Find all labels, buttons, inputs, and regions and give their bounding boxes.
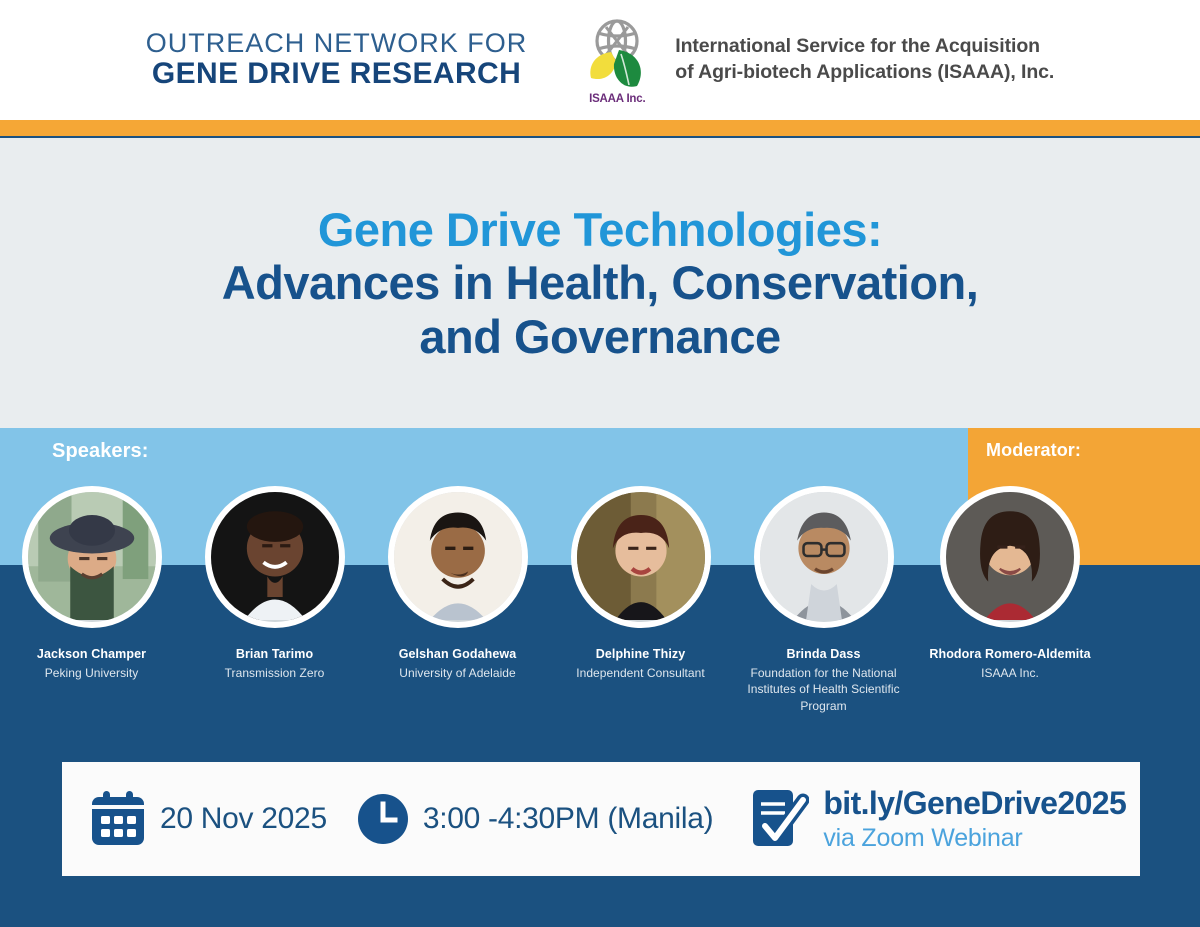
page-title-line2: Advances in Health, Conservation,	[222, 256, 979, 310]
speaker-name: Jackson Champer	[37, 647, 146, 663]
people-row: Jackson Champer Peking University Brian …	[0, 486, 1200, 746]
avatar	[754, 486, 894, 628]
isaaa-name-line2: of Agri-biotech Applications (ISAAA), In…	[675, 60, 1054, 86]
outreach-network-line2: GENE DRIVE RESEARCH	[146, 58, 528, 90]
registration-link-block[interactable]: bit.ly/GeneDrive2025 via Zoom Webinar	[823, 787, 1126, 851]
speaker-name: Brian Tarimo	[236, 647, 313, 663]
speaker-affiliation: Independent Consultant	[576, 665, 705, 682]
avatar	[388, 486, 528, 628]
poster-header: OUTREACH NETWORK FOR GENE DRIVE RESEARCH	[0, 0, 1200, 120]
speaker-affiliation: Peking University	[45, 665, 139, 682]
isaaa-full-name: International Service for the Acquisitio…	[675, 34, 1054, 85]
speaker-name: Delphine Thizy	[596, 647, 686, 663]
speaker-card: Jackson Champer Peking University	[0, 486, 183, 681]
calendar-icon	[90, 791, 146, 847]
date-item: 20 Nov 2025	[90, 791, 327, 847]
time-item: 3:00 -4:30PM (Manila)	[357, 793, 714, 845]
avatar	[22, 486, 162, 628]
orange-divider-bar	[0, 120, 1200, 136]
page-title-line1: Gene Drive Technologies:	[318, 203, 882, 257]
speaker-card: Brian Tarimo Transmission Zero	[183, 486, 366, 681]
speaker-affiliation: Foundation for the National Institutes o…	[738, 665, 910, 715]
moderator-affiliation: ISAAA Inc.	[981, 665, 1039, 682]
outreach-network-line1: OUTREACH NETWORK FOR	[146, 29, 528, 58]
speaker-card: Gelshan Godahewa University of Adelaide	[366, 486, 549, 681]
moderator-label: Moderator:	[986, 440, 1081, 461]
avatar	[571, 486, 711, 628]
speaker-card: Brinda Dass Foundation for the National …	[732, 486, 915, 714]
moderator-name: Rhodora Romero-Aldemita	[929, 647, 1090, 663]
form-check-icon	[751, 788, 809, 850]
avatar	[940, 486, 1080, 628]
speaker-name: Brinda Dass	[786, 647, 860, 663]
clock-icon	[357, 793, 409, 845]
isaaa-logo-block: ISAAA Inc. International Service for the…	[573, 14, 1054, 106]
registration-url[interactable]: bit.ly/GeneDrive2025	[823, 787, 1126, 821]
speaker-affiliation: Transmission Zero	[225, 665, 325, 682]
registration-platform: via Zoom Webinar	[823, 825, 1126, 852]
isaaa-logo-icon: ISAAA Inc.	[573, 14, 661, 106]
moderator-card: Rhodora Romero-Aldemita ISAAA Inc.	[915, 486, 1105, 681]
event-date: 20 Nov 2025	[160, 802, 327, 836]
speakers-label: Speakers:	[52, 440, 149, 463]
registration-item[interactable]: bit.ly/GeneDrive2025 via Zoom Webinar	[751, 787, 1126, 851]
outreach-network-logo: OUTREACH NETWORK FOR GENE DRIVE RESEARCH	[146, 29, 528, 91]
speaker-affiliation: University of Adelaide	[399, 665, 516, 682]
page-title-line3: and Governance	[419, 310, 780, 364]
isaaa-logo-caption: ISAAA Inc.	[573, 93, 661, 105]
event-time: 3:00 -4:30PM (Manila)	[423, 802, 714, 836]
isaaa-name-line1: International Service for the Acquisitio…	[675, 34, 1054, 60]
speaker-name: Gelshan Godahewa	[399, 647, 517, 663]
title-panel: Gene Drive Technologies: Advances in Hea…	[0, 138, 1200, 428]
avatar	[205, 486, 345, 628]
event-details-card: 20 Nov 2025 3:00 -4:30PM (Manila) bit.ly…	[62, 762, 1140, 876]
speaker-card: Delphine Thizy Independent Consultant	[549, 486, 732, 681]
